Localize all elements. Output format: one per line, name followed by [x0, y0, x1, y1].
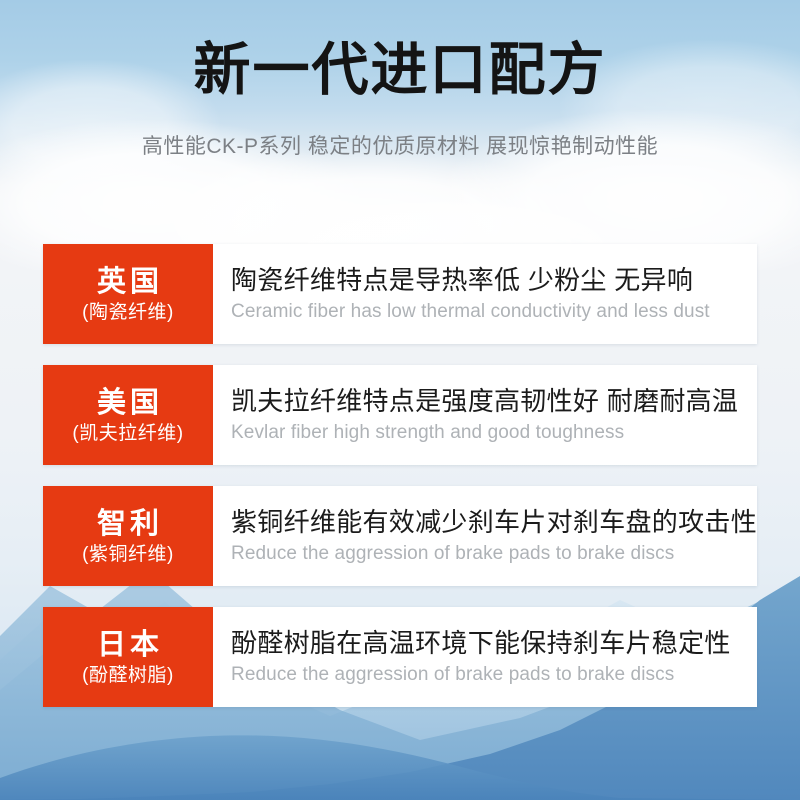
origin-badge: 英国 (陶瓷纤维) [43, 244, 213, 344]
feature-description-cn: 陶瓷纤维特点是导热率低 少粉尘 无异响 [231, 263, 757, 297]
feature-card-body: 紫铜纤维能有效减少刹车片对刹车盘的攻击性 Reduce the aggressi… [213, 486, 757, 586]
promo-poster: 新一代进口配方 高性能CK-P系列 稳定的优质原材料 展现惊艳制动性能 英国 (… [0, 0, 800, 800]
origin-badge: 智利 (紫铜纤维) [43, 486, 213, 586]
badge-material-label: (凯夫拉纤维) [72, 421, 183, 447]
feature-card-body: 陶瓷纤维特点是导热率低 少粉尘 无异响 Ceramic fiber has lo… [213, 244, 757, 344]
feature-description-en: Kevlar fiber high strength and good toug… [231, 419, 757, 447]
feature-card[interactable]: 智利 (紫铜纤维) 紫铜纤维能有效减少刹车片对刹车盘的攻击性 Reduce th… [43, 486, 757, 586]
origin-badge: 美国 (凯夫拉纤维) [43, 365, 213, 465]
feature-description-cn: 酚醛树脂在高温环境下能保持刹车片稳定性 [231, 626, 757, 660]
feature-card[interactable]: 日本 (酚醛树脂) 酚醛树脂在高温环境下能保持刹车片稳定性 Reduce the… [43, 607, 757, 707]
badge-material-label: (酚醛树脂) [82, 663, 174, 689]
badge-material-label: (陶瓷纤维) [82, 300, 174, 326]
feature-card-body: 酚醛树脂在高温环境下能保持刹车片稳定性 Reduce the aggressio… [213, 607, 757, 707]
feature-description-cn: 凯夫拉纤维特点是强度高韧性好 耐磨耐高温 [231, 384, 757, 418]
badge-material-label: (紫铜纤维) [82, 542, 174, 568]
feature-card-body: 凯夫拉纤维特点是强度高韧性好 耐磨耐高温 Kevlar fiber high s… [213, 365, 757, 465]
feature-description-en: Reduce the aggression of brake pads to b… [231, 540, 757, 568]
badge-country-label: 美国 [93, 386, 163, 420]
origin-badge: 日本 (酚醛树脂) [43, 607, 213, 707]
page-title: 新一代进口配方 [0, 38, 800, 102]
feature-description-en: Reduce the aggression of brake pads to b… [231, 661, 757, 689]
feature-card[interactable]: 美国 (凯夫拉纤维) 凯夫拉纤维特点是强度高韧性好 耐磨耐高温 Kevlar f… [43, 365, 757, 465]
feature-card-list: 英国 (陶瓷纤维) 陶瓷纤维特点是导热率低 少粉尘 无异响 Ceramic fi… [43, 244, 757, 728]
feature-description-en: Ceramic fiber has low thermal conductivi… [231, 298, 757, 326]
badge-country-label: 日本 [93, 628, 163, 662]
page-subtitle: 高性能CK-P系列 稳定的优质原材料 展现惊艳制动性能 [0, 133, 800, 161]
badge-country-label: 英国 [93, 265, 163, 299]
feature-description-cn: 紫铜纤维能有效减少刹车片对刹车盘的攻击性 [231, 505, 757, 539]
badge-country-label: 智利 [93, 507, 163, 541]
feature-card[interactable]: 英国 (陶瓷纤维) 陶瓷纤维特点是导热率低 少粉尘 无异响 Ceramic fi… [43, 244, 757, 344]
